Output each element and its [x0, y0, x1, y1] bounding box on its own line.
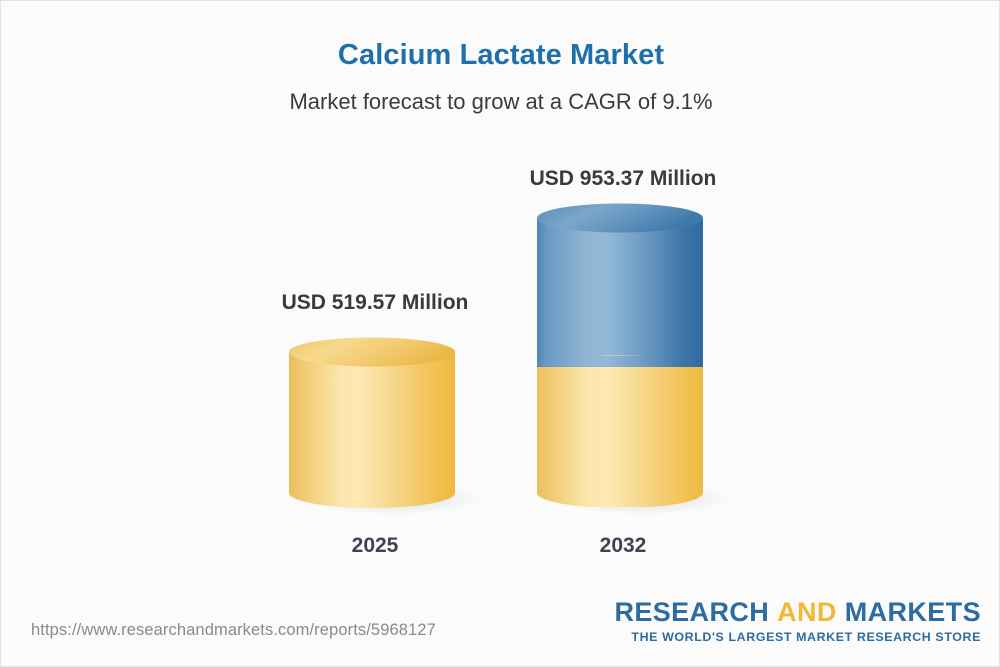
- logo-wordmark: RESEARCH AND MARKETS: [614, 599, 981, 626]
- researchandmarkets-logo: RESEARCH AND MARKETS THE WORLD'S LARGEST…: [614, 599, 981, 643]
- chart-canvas: Calcium Lactate Market Market forecast t…: [0, 0, 1000, 667]
- category-label-2032: 2032: [463, 534, 783, 558]
- logo-word-and: AND: [777, 597, 837, 627]
- logo-word-research: RESEARCH: [614, 597, 769, 627]
- cylinder-2032: [525, 187, 740, 537]
- report-url[interactable]: https://www.researchandmarkets.com/repor…: [31, 621, 436, 640]
- cylinder-2025: [277, 321, 492, 536]
- logo-word-markets: MARKETS: [845, 597, 981, 627]
- plot-area: USD 519.57 Million: [1, 1, 1000, 601]
- bar-group-2032: USD 953.37 Million: [463, 1, 783, 601]
- logo-tagline: THE WORLD'S LARGEST MARKET RESEARCH STOR…: [614, 631, 981, 643]
